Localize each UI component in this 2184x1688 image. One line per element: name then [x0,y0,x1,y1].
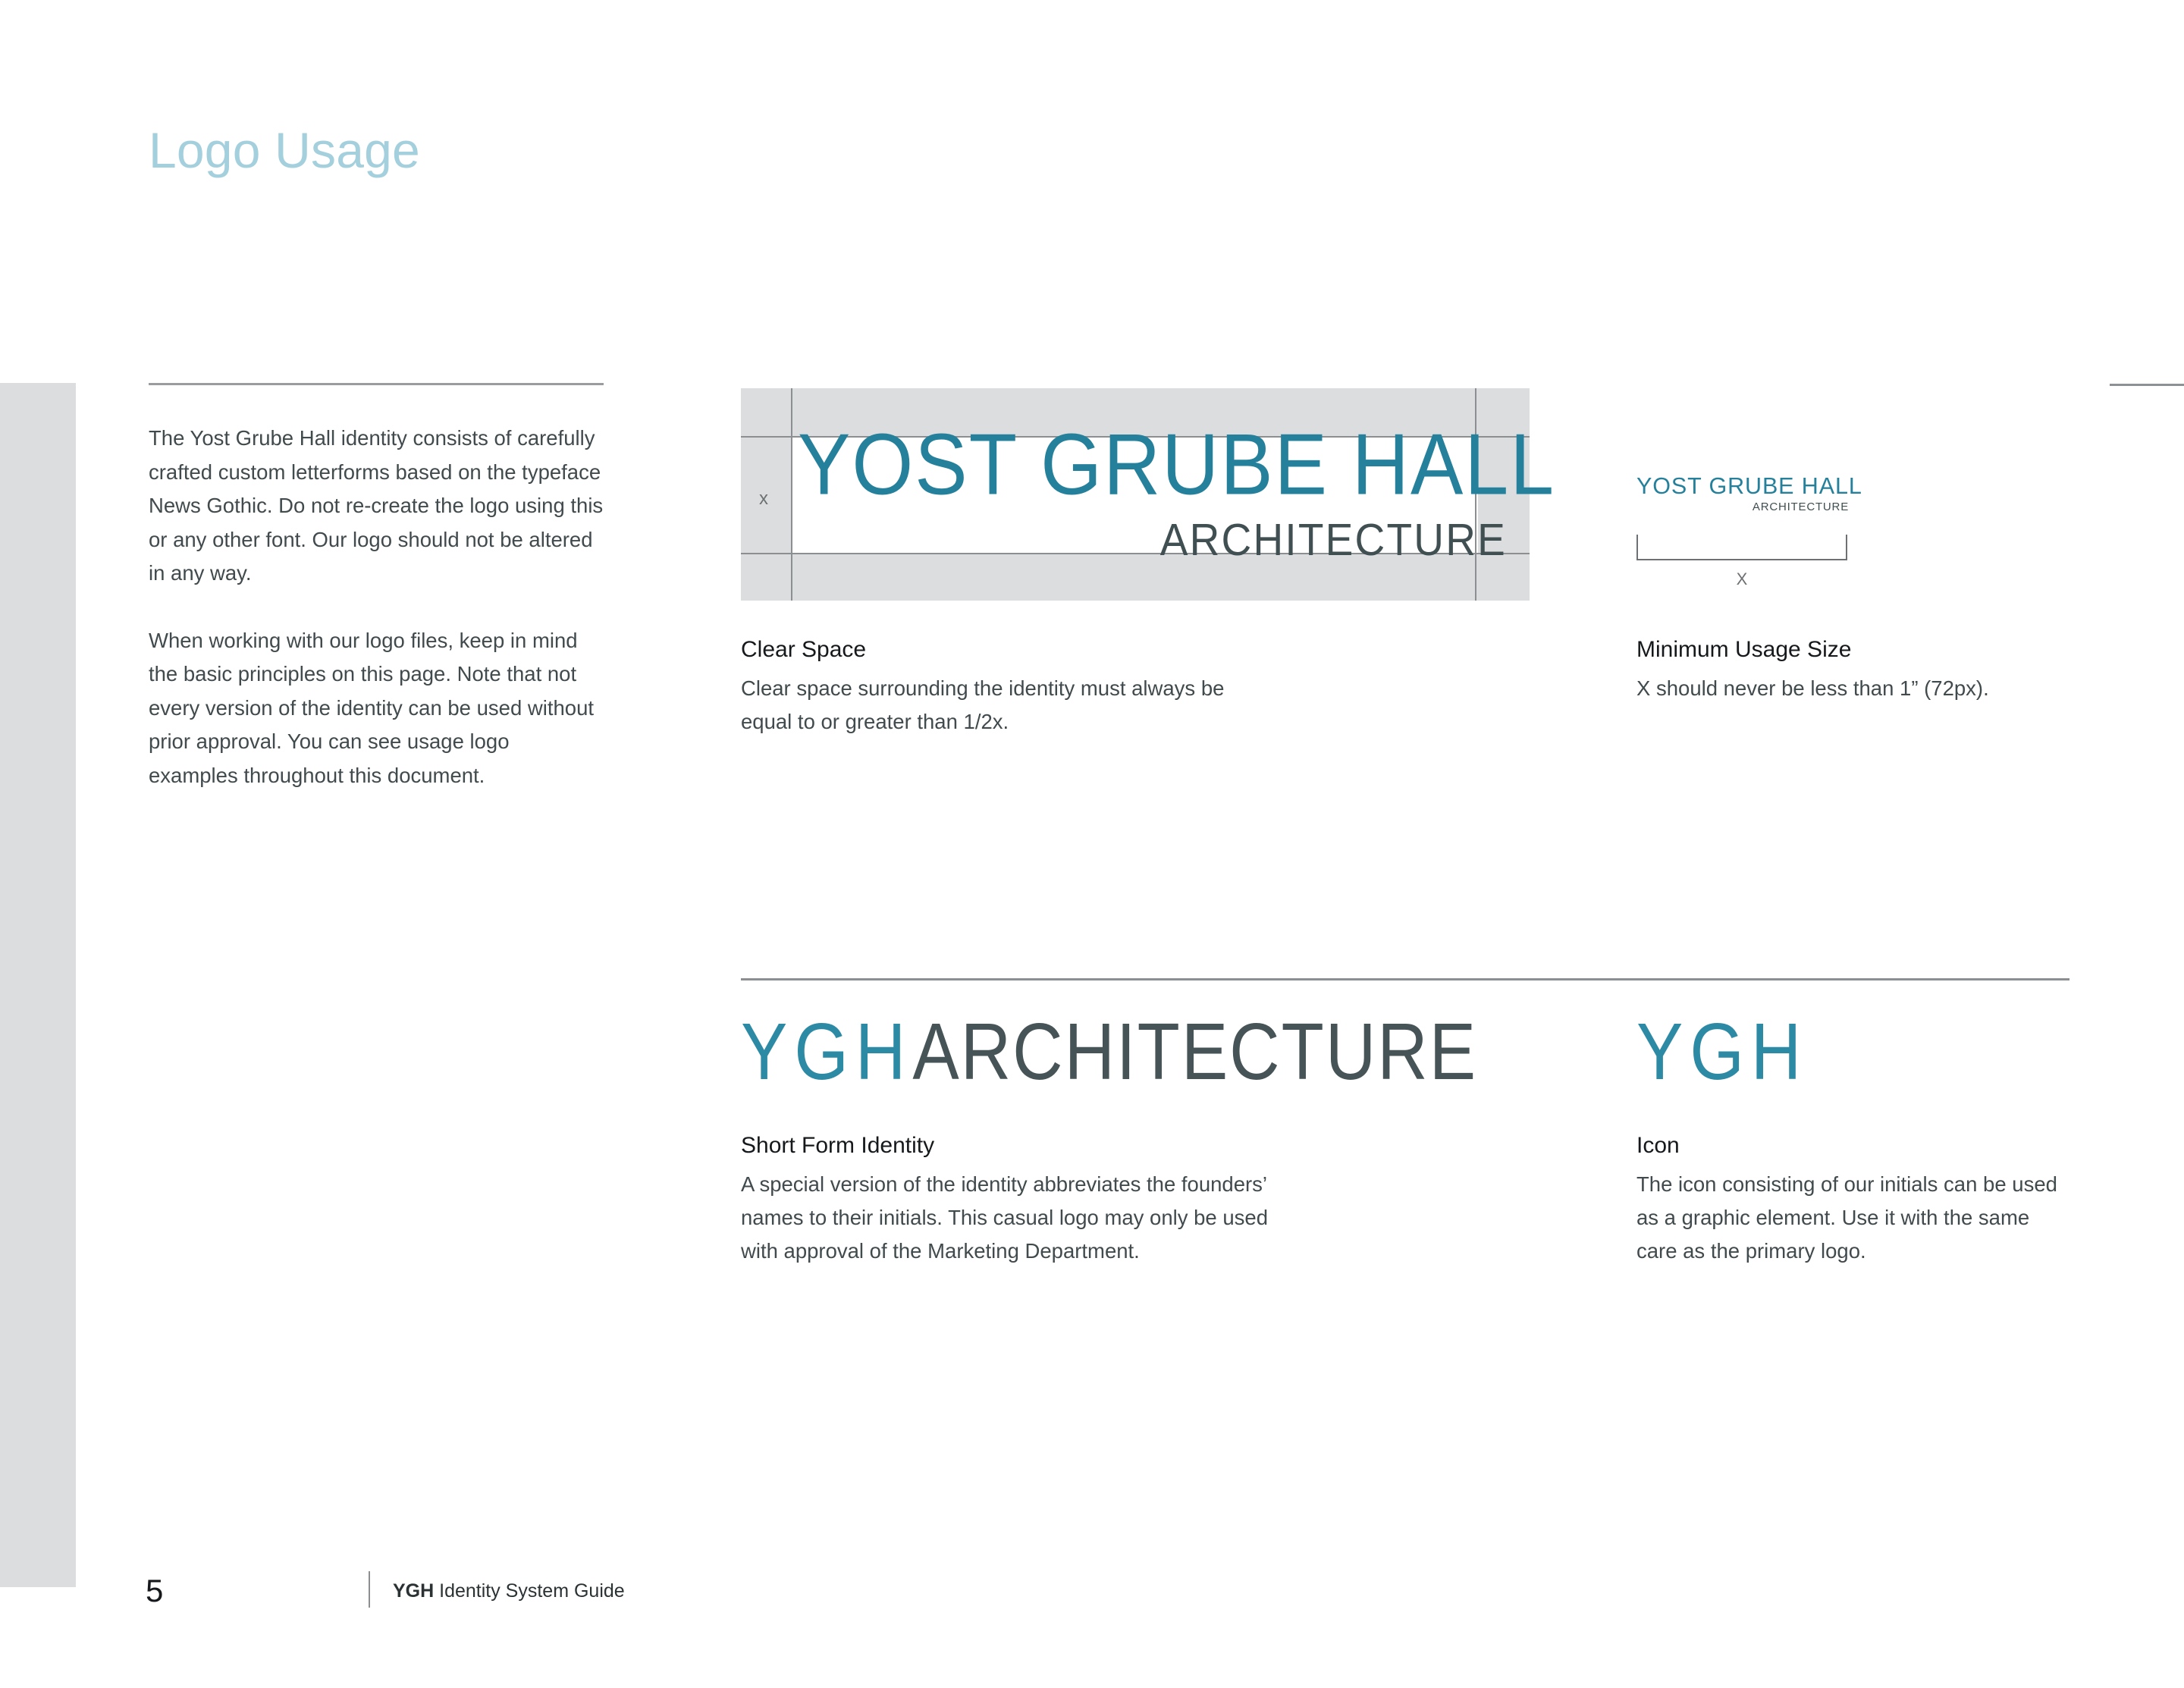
measure-tick-right [1846,535,1847,560]
short-form-logo-lockup: YGHARCHITECTURE [741,1009,1477,1096]
page-title: Logo Usage [149,121,420,179]
icon-logo-lockup: YGH [1636,1009,1808,1096]
icon-caption-body: The icon consisting of our initials can … [1636,1168,2061,1268]
icon-caption: Icon The icon consisting of our initials… [1636,1131,2061,1268]
footer-brand: YGH [393,1580,434,1602]
minimum-size-caption: Minimum Usage Size X should never be les… [1636,635,2107,705]
footer-divider [369,1571,370,1608]
primary-logo-subtitle: ARCHITECTURE [798,516,1507,563]
clear-space-caption: Clear Space Clear space surrounding the … [741,635,1272,739]
footer-document-label: YGH Identity System Guide [393,1580,625,1602]
primary-logo-wordmark: YOST GRUBE HALL [798,425,1507,505]
intro-column: The Yost Grube Hall identity consists of… [149,383,604,792]
footer-page-number: 5 [146,1573,163,1608]
minimum-size-subtitle: ARCHITECTURE [1636,500,1849,513]
page-canvas: Logo Usage The Yost Grube Hall identity … [0,0,2184,1688]
minimum-size-caption-body: X should never be less than 1” (72px). [1636,672,2107,705]
clear-space-x-marker: x [759,488,768,510]
minimum-size-diagram: YOST GRUBE HALL ARCHITECTURE X [1636,474,1879,589]
icon-caption-title: Icon [1636,1131,2061,1160]
short-form-caption-body: A special version of the identity abbrev… [741,1168,1294,1268]
clear-space-caption-body: Clear space surrounding the identity mus… [741,672,1272,739]
section-divider-rule [741,978,2069,980]
top-right-hairline [2110,384,2184,386]
primary-logo-lockup: YOST GRUBE HALL ARCHITECTURE [798,425,1507,560]
footer-document-name: Identity System Guide [434,1580,625,1602]
short-form-caption-title: Short Form Identity [741,1131,1294,1160]
measure-tick-left [1636,535,1638,560]
minimum-size-measure-bracket [1636,533,1847,560]
intro-paragraph-1: The Yost Grube Hall identity consists of… [149,422,604,591]
minimum-size-caption-title: Minimum Usage Size [1636,635,2107,664]
minimum-size-logo: YOST GRUBE HALL ARCHITECTURE [1636,474,1849,513]
minimum-size-wordmark: YOST GRUBE HALL [1636,474,1849,498]
measure-bar [1636,559,1847,560]
measure-label: X [1636,569,1847,589]
short-form-initials: YGH [741,1008,912,1097]
left-edge-gray-band [0,383,76,1587]
clear-space-guide-left [791,388,792,601]
short-form-word: ARCHITECTURE [912,1008,1477,1097]
clear-space-caption-title: Clear Space [741,635,1272,664]
intro-paragraph-2: When working with our logo files, keep i… [149,624,604,793]
intro-rule [149,383,604,385]
short-form-caption: Short Form Identity A special version of… [741,1131,1294,1268]
intro-body: The Yost Grube Hall identity consists of… [149,422,604,792]
